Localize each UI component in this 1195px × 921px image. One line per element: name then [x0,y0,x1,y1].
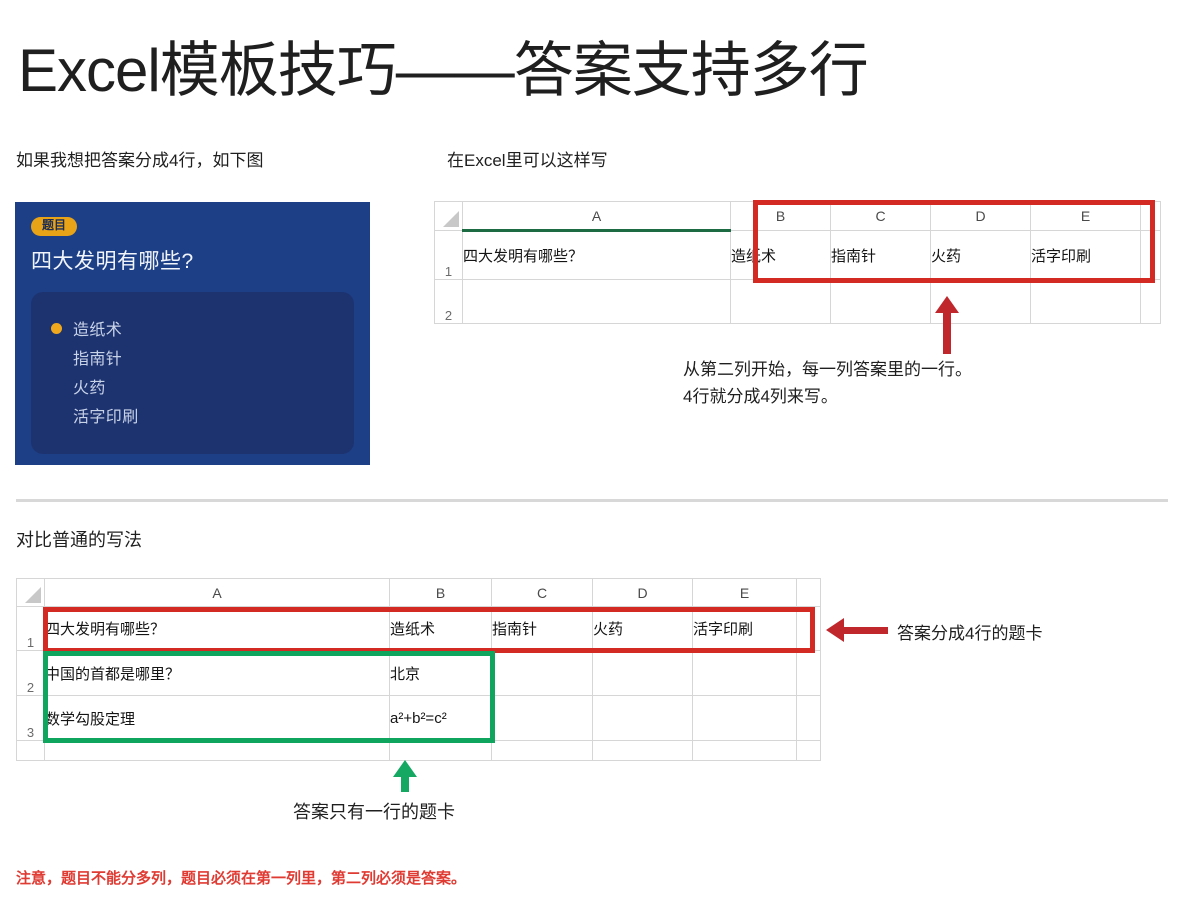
row-header[interactable]: 2 [435,280,463,324]
answer-item: 造纸术 [51,314,334,343]
column-header-a[interactable]: A [45,579,390,607]
column-header-c[interactable]: C [492,579,593,607]
cell-f4[interactable] [797,741,821,761]
annotation-top-line2: 4行就分成4列来写。 [683,383,972,410]
select-all-corner[interactable] [17,579,45,607]
cell-a2[interactable]: 中国的首都是哪里？ [45,651,390,696]
column-header-row: A B C D E [435,202,1161,231]
cell-e1[interactable]: 活字印刷 [1031,231,1141,280]
annotation-top: 从第二列开始，每一列答案里的一行。 4行就分成4列来写。 [683,356,972,410]
cell-f2[interactable] [797,651,821,696]
table-row: 2 [435,280,1161,324]
answer-label: 造纸术 [73,316,122,340]
cell-a2[interactable] [463,280,731,324]
arrow-head-icon [826,618,844,642]
column-header-c[interactable]: C [831,202,931,231]
caption-compare: 对比普通的写法 [16,526,142,552]
excel-sheet-bottom[interactable]: A B C D E 1 四大发明有哪些？ 造纸术 指南针 火药 活字印刷 2 中… [16,578,820,761]
cell-c3[interactable] [492,696,593,741]
arrow-head-icon [935,296,959,313]
arrow-up-green [390,760,420,792]
column-header-a[interactable]: A [463,202,731,231]
arrow-shaft [943,312,951,354]
table-row: 1 四大发明有哪些？ 造纸术 指南针 火药 活字印刷 [435,231,1161,280]
row-header[interactable]: 1 [435,231,463,280]
arrow-up-red [932,296,962,354]
cell-e4[interactable] [693,741,797,761]
row-header[interactable]: 3 [17,696,45,741]
select-all-corner[interactable] [435,202,463,231]
table-row [17,741,821,761]
annotation-right: 答案分成4行的题卡 [897,620,1042,647]
column-header-f[interactable] [797,579,821,607]
cell-a1[interactable]: 四大发明有哪些？ [45,607,390,651]
answer-item: 活字印刷 [51,401,334,430]
question-card: 题目 四大发明有哪些? 造纸术 指南针 火药 活字印刷 [15,202,370,465]
cell-a1[interactable]: 四大发明有哪些？ [463,231,731,280]
answer-label: 指南针 [73,345,122,369]
cell-d3[interactable] [593,696,693,741]
row-header[interactable] [17,741,45,761]
cell-b2[interactable] [731,280,831,324]
excel-sheet-top[interactable]: A B C D E 1 四大发明有哪些？ 造纸术 指南针 火药 活字印刷 2 [434,201,1160,300]
column-header-b[interactable]: B [390,579,492,607]
cell-b4[interactable] [390,741,492,761]
footer-warning-note: 注意，题目不能分多列，题目必须在第一列里，第二列必须是答案。 [16,867,466,888]
answer-item: 指南针 [51,343,334,372]
answer-panel: 造纸术 指南针 火药 活字印刷 [31,292,354,454]
triangle-icon [443,211,459,227]
cell-b1[interactable]: 造纸术 [731,231,831,280]
cell-c2[interactable] [492,651,593,696]
annotation-top-line1: 从第二列开始，每一列答案里的一行。 [683,356,972,383]
column-header-e[interactable]: E [693,579,797,607]
section-divider [16,499,1168,502]
cell-c1[interactable]: 指南针 [831,231,931,280]
cell-d1[interactable]: 火药 [593,607,693,651]
table-row: 2 中国的首都是哪里？ 北京 [17,651,821,696]
table-row: 1 四大发明有哪些？ 造纸术 指南针 火药 活字印刷 [17,607,821,651]
column-header-row: A B C D E [17,579,821,607]
cell-c1[interactable]: 指南针 [492,607,593,651]
question-text: 四大发明有哪些? [31,245,354,275]
cell-d4[interactable] [593,741,693,761]
arrow-left-red [826,618,888,642]
annotation-bottom: 答案只有一行的题卡 [293,798,455,827]
cell-b2[interactable]: 北京 [390,651,492,696]
cell-f2[interactable] [1141,280,1161,324]
cell-b1[interactable]: 造纸术 [390,607,492,651]
cell-d2[interactable] [593,651,693,696]
answer-item: 火药 [51,372,334,401]
cell-f3[interactable] [797,696,821,741]
cell-a3[interactable]: 数学勾股定理 [45,696,390,741]
cell-d1[interactable]: 火药 [931,231,1031,280]
column-header-d[interactable]: D [593,579,693,607]
arrow-shaft [843,627,888,634]
answer-label: 火药 [73,374,106,398]
caption-left: 如果我想把答案分成4行，如下图 [16,146,263,171]
arrow-shaft [401,776,409,792]
table-row: 3 数学勾股定理 a²+b²=c² [17,696,821,741]
arrow-head-icon [393,760,417,777]
row-header[interactable]: 2 [17,651,45,696]
cell-e2[interactable] [693,651,797,696]
triangle-icon [25,587,41,603]
column-header-b[interactable]: B [731,202,831,231]
caption-right: 在Excel里可以这样写 [447,146,608,171]
cell-e1[interactable]: 活字印刷 [693,607,797,651]
question-badge: 题目 [31,217,77,236]
column-header-f[interactable] [1141,202,1161,231]
cell-f1[interactable] [797,607,821,651]
cell-b3[interactable]: a²+b²=c² [390,696,492,741]
cell-c2[interactable] [831,280,931,324]
column-header-d[interactable]: D [931,202,1031,231]
cell-a4[interactable] [45,741,390,761]
answer-label: 活字印刷 [73,403,139,427]
column-header-e[interactable]: E [1031,202,1141,231]
cell-f1[interactable] [1141,231,1161,280]
cell-e2[interactable] [1031,280,1141,324]
cell-c4[interactable] [492,741,593,761]
cell-e3[interactable] [693,696,797,741]
page-title: Excel模板技巧——答案支持多行 [18,22,868,109]
row-header[interactable]: 1 [17,607,45,651]
bullet-icon [51,323,62,334]
